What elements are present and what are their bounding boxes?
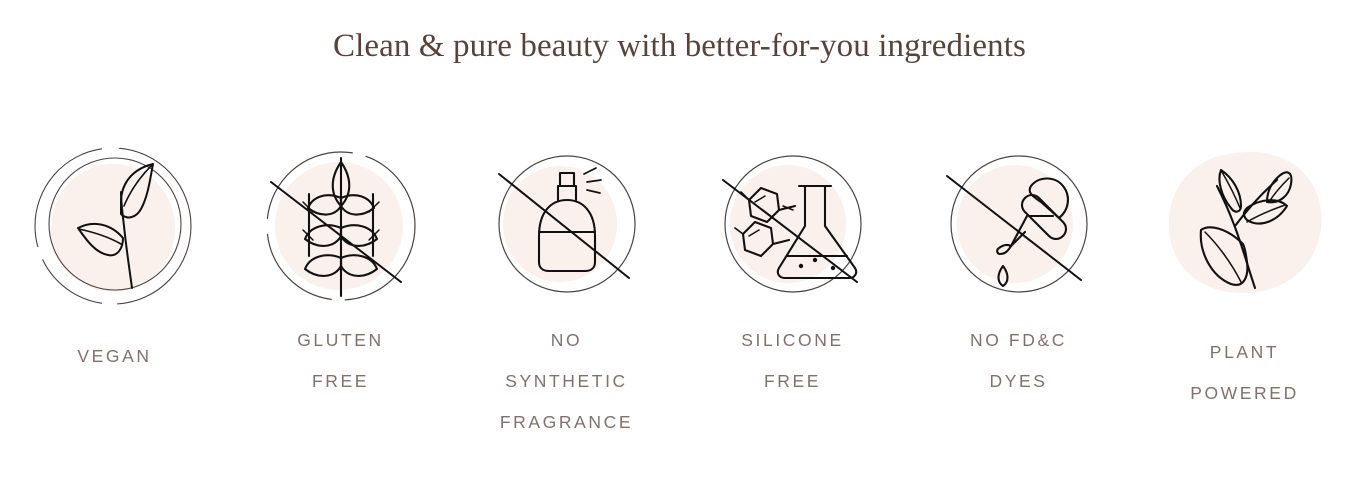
- badge-plant-powered[interactable]: PLANT POWERED: [1132, 140, 1358, 414]
- badge-vegan[interactable]: VEGAN: [2, 140, 228, 377]
- badge-list: VEGAN: [0, 140, 1359, 470]
- badge-label: SILICONE FREE: [741, 320, 844, 402]
- badge-label: GLUTEN FREE: [297, 320, 384, 402]
- page-title: Clean & pure beauty with better-for-you …: [0, 24, 1359, 68]
- perfume-bottle-icon: [477, 140, 657, 312]
- wheat-icon: [251, 140, 431, 312]
- badge-label: NO FD&C DYES: [970, 320, 1067, 402]
- dropper-icon: [929, 140, 1109, 312]
- sprout-icon: [25, 140, 205, 312]
- badge-label: PLANT POWERED: [1190, 332, 1299, 414]
- clean-beauty-badge-section: Clean & pure beauty with better-for-you …: [0, 0, 1359, 477]
- leaf-branch-icon: [1155, 140, 1335, 312]
- molecule-flask-icon: [703, 140, 883, 312]
- badge-label: VEGAN: [77, 336, 151, 377]
- badge-gluten-free[interactable]: GLUTEN FREE: [228, 140, 454, 402]
- badge-no-synthetic-fragrance[interactable]: NO SYNTHETIC FRAGRANCE: [454, 140, 680, 443]
- badge-label: NO SYNTHETIC FRAGRANCE: [500, 320, 633, 443]
- badge-no-fdc-dyes[interactable]: NO FD&C DYES: [906, 140, 1132, 402]
- badge-silicone-free[interactable]: SILICONE FREE: [680, 140, 906, 402]
